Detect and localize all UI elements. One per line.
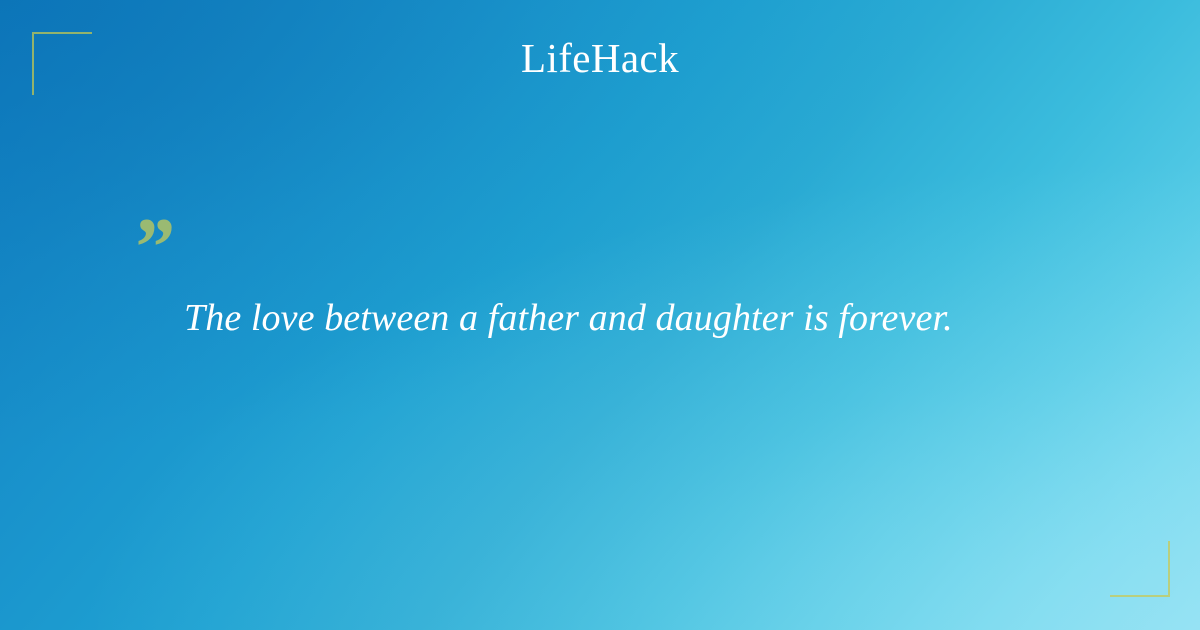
quotation-mark-icon: ” (131, 206, 171, 290)
quote-text: The love between a father and daughter i… (184, 294, 1084, 343)
quote-card: LifeHack ” The love between a father and… (0, 0, 1200, 630)
quote-block: ” The love between a father and daughter… (0, 0, 1200, 630)
